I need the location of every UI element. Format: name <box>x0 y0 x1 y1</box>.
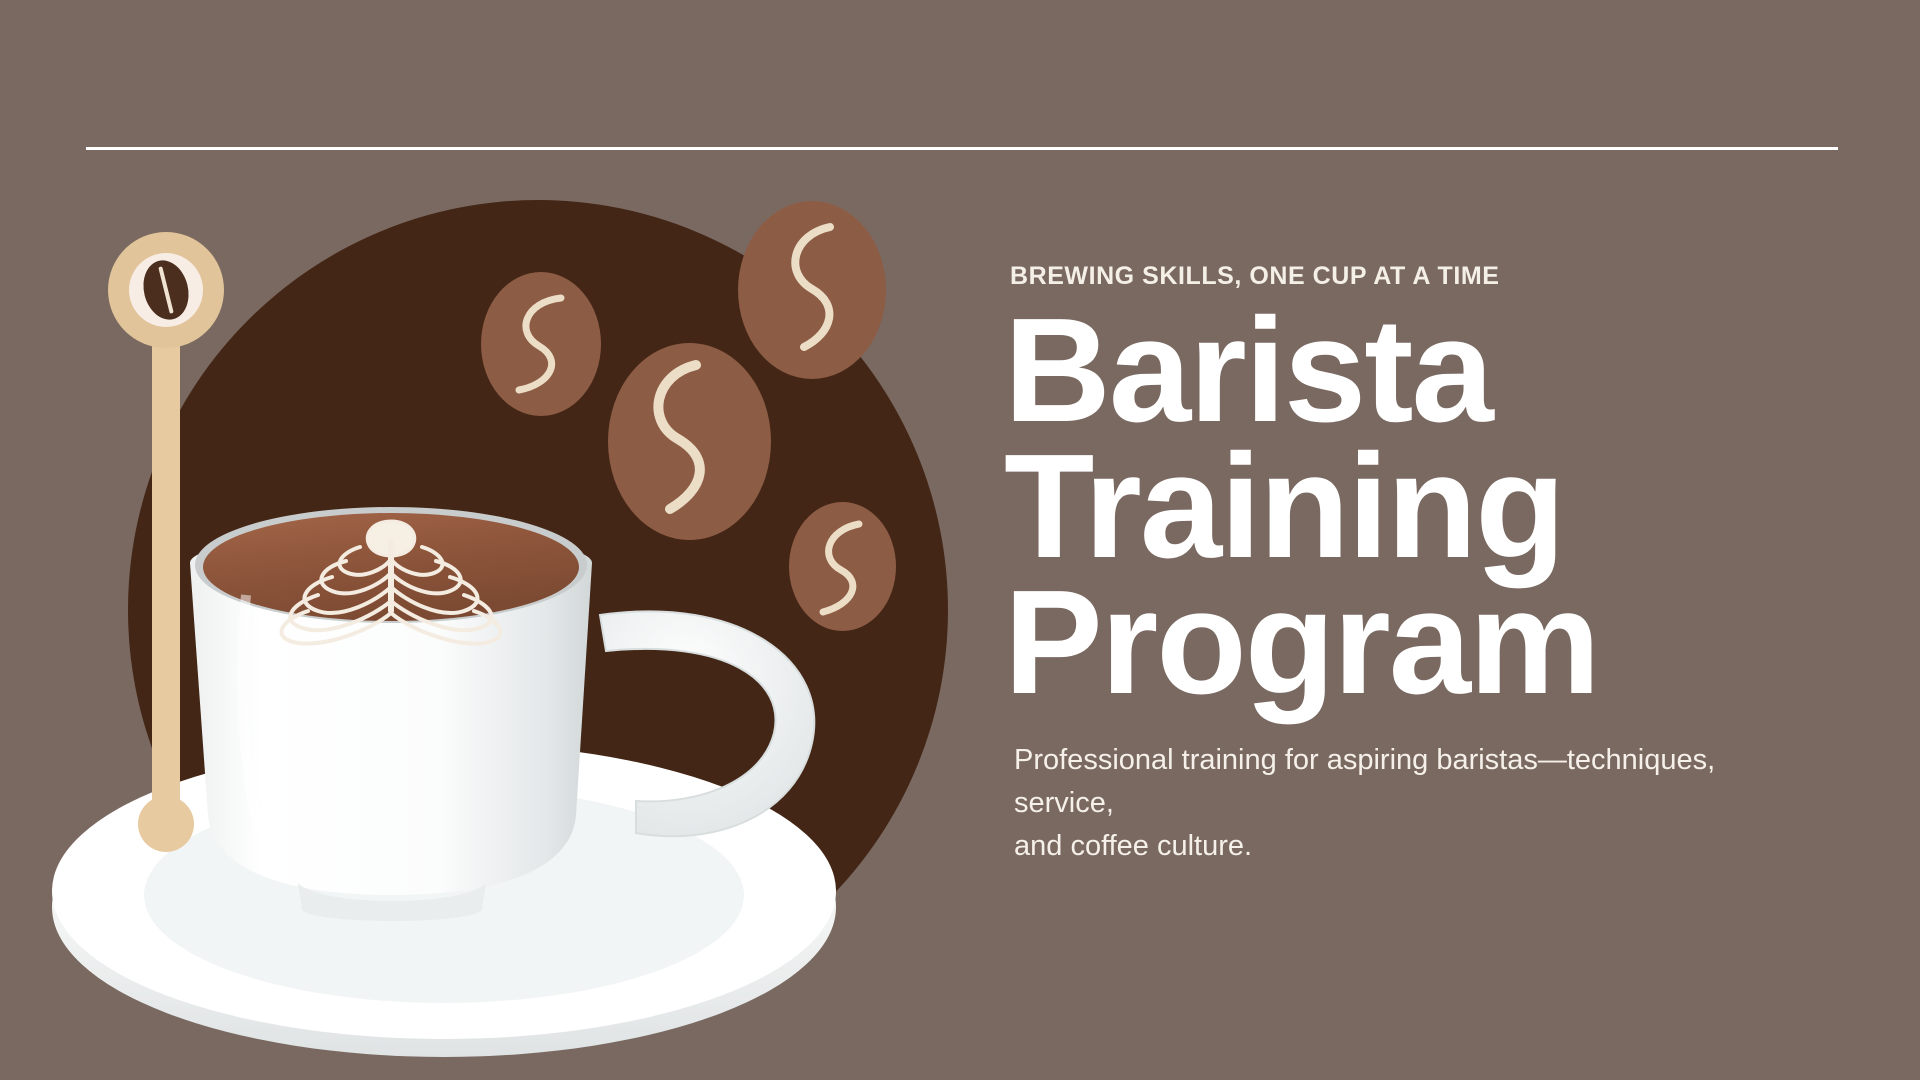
headline-line-3: Program <box>1004 575 1884 711</box>
coffee-bean-pin-marker <box>108 232 224 852</box>
page-title: Barista Training Program <box>1004 303 1884 711</box>
coffee-bean-decor-1 <box>481 272 601 416</box>
top-divider-rule <box>86 147 1838 150</box>
headline-line-1: Barista <box>1004 303 1884 439</box>
bean-curve-icon <box>481 272 601 416</box>
slide-root: BREWING SKILLS, ONE CUP AT A TIME Barist… <box>0 0 1920 1080</box>
pin-ring <box>108 232 224 348</box>
pin-ball <box>138 796 194 852</box>
description-line-1: Professional training for aspiring baris… <box>1004 739 1884 782</box>
pin-stem <box>152 284 180 814</box>
description-line-3: and coffee culture. <box>1004 825 1884 868</box>
description-text: Professional training for aspiring baris… <box>1004 739 1884 868</box>
copy-block: BREWING SKILLS, ONE CUP AT A TIME Barist… <box>1004 262 1884 868</box>
eyebrow-text: BREWING SKILLS, ONE CUP AT A TIME <box>1010 262 1884 291</box>
headline-line-2: Training <box>1004 439 1884 575</box>
description-line-2: service, <box>1004 782 1884 825</box>
